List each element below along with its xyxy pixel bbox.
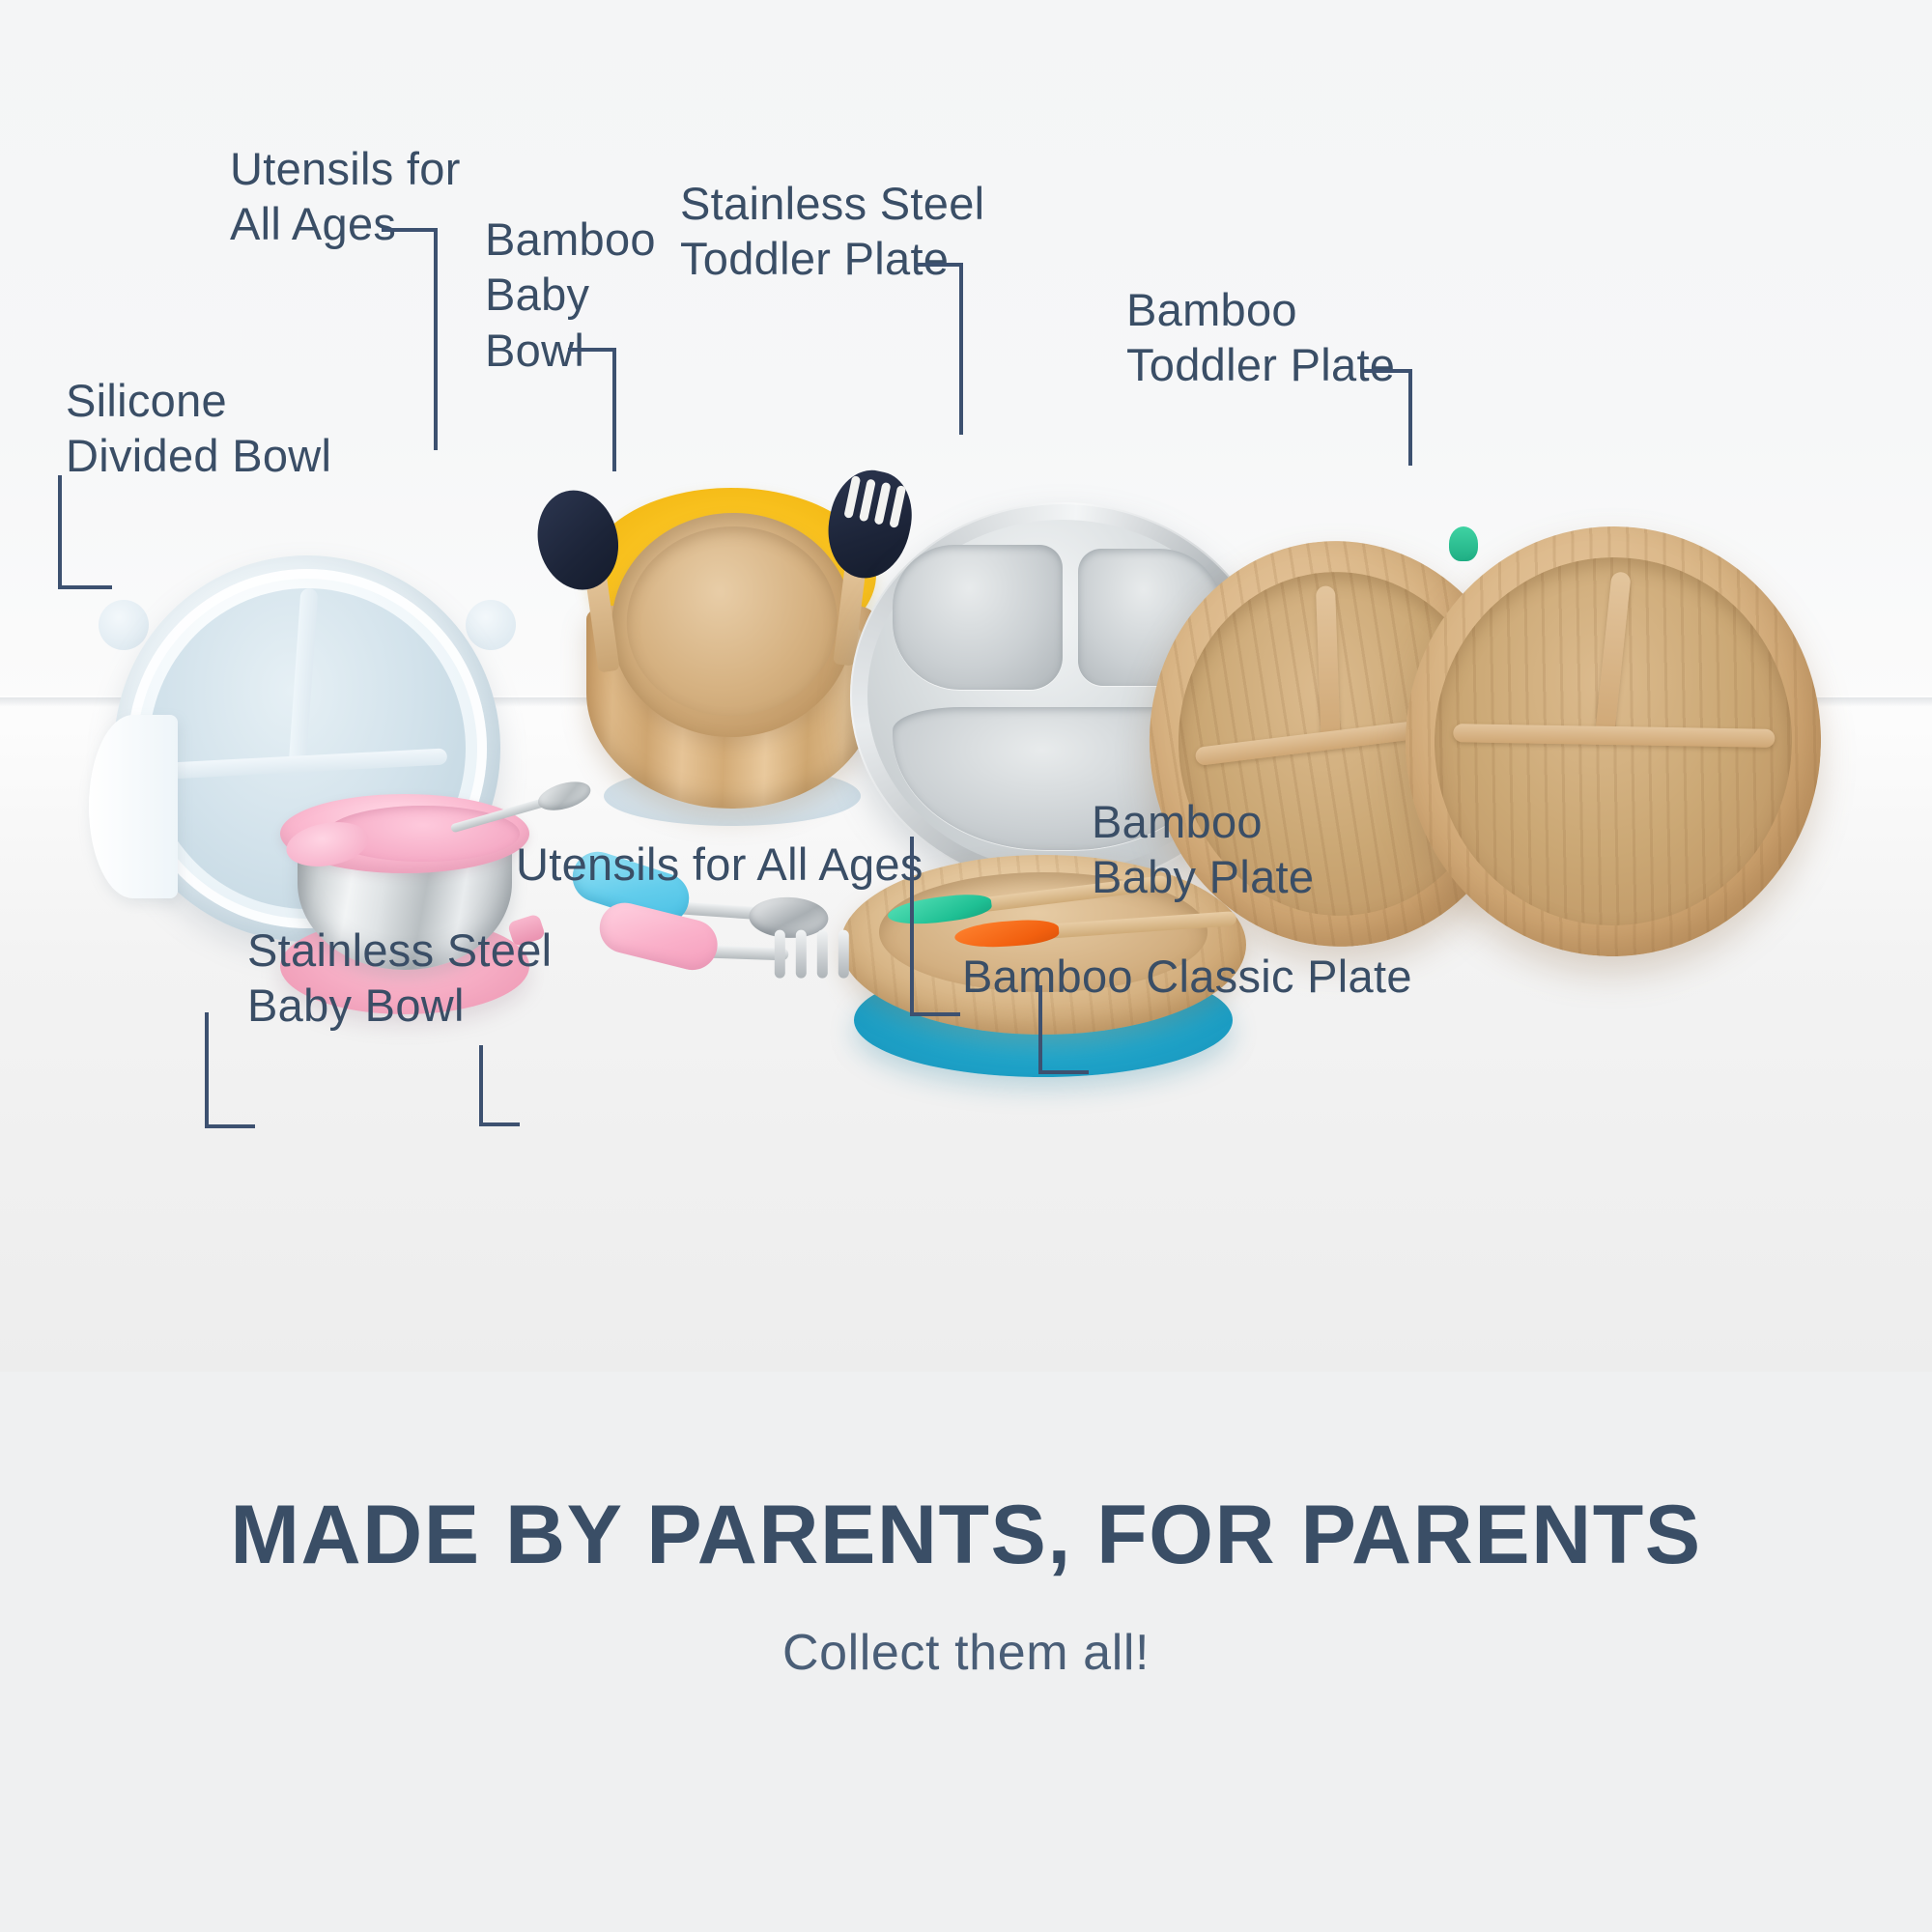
metal-fork-tine xyxy=(775,930,785,979)
bamboo-toddler-plate-suction-tab xyxy=(1449,526,1478,561)
callout-label-stainless-steel-baby-bowl: Stainless Steel Baby Bowl xyxy=(247,923,552,1034)
leader-line-utensils-for-all-ages-bottom xyxy=(479,1045,520,1126)
metal-fork-tine xyxy=(796,930,807,979)
leader-line-bamboo-classic-plate xyxy=(910,837,960,1016)
callout-label-bamboo-toddler-plate: Bamboo Toddler Plate xyxy=(1126,282,1395,393)
metal-fork-grip xyxy=(594,897,723,975)
leader-line-bamboo-baby-bowl xyxy=(568,348,616,471)
callout-label-silicone-divided-bowl: Silicone Divided Bowl xyxy=(66,373,331,484)
headline: MADE BY PARENTS, FOR PARENTS xyxy=(0,1488,1932,1583)
silicone-bowl-ear-right xyxy=(466,600,516,650)
silicone-bowl-suction-foot xyxy=(89,715,178,898)
callout-label-bamboo-classic-plate: Bamboo Classic Plate xyxy=(962,949,1412,1004)
stainless-plate-compartment-top-left xyxy=(893,545,1063,690)
silicone-bowl-divider-vertical xyxy=(288,588,318,768)
silicone-bowl-ear-left xyxy=(99,600,149,650)
bamboo-toddler-plate-divider-horizontal xyxy=(1453,724,1775,748)
product-metal-cutlery-set xyxy=(570,874,860,1067)
leader-line-utensils-for-all-ages-top xyxy=(382,228,438,450)
callout-label-utensils-for-all-ages-bottom: Utensils for All Ages xyxy=(516,837,923,892)
footer-copy: MADE BY PARENTS, FOR PARENTS Collect the… xyxy=(0,1488,1932,1682)
metal-fork-tine xyxy=(838,930,849,979)
subline: Collect them all! xyxy=(0,1624,1932,1682)
bamboo-baby-plate-divider-vertical xyxy=(1316,586,1341,745)
leader-line-stainless-steel-baby-bowl xyxy=(205,1012,255,1128)
bamboo-toddler-plate-divider-vertical xyxy=(1595,572,1632,742)
infographic-stage: Silicone Divided Bowl Utensils for All A… xyxy=(0,0,1932,1932)
metal-fork-tine xyxy=(817,930,828,979)
leader-line-stainless-steel-toddler-plate xyxy=(915,263,963,435)
leader-line-silicone-divided-bowl xyxy=(58,475,116,589)
callout-label-bamboo-baby-plate: Bamboo Baby Plate xyxy=(1092,794,1314,905)
leader-line-bamboo-toddler-plate xyxy=(1364,369,1412,466)
metal-fork-tines xyxy=(775,930,867,982)
